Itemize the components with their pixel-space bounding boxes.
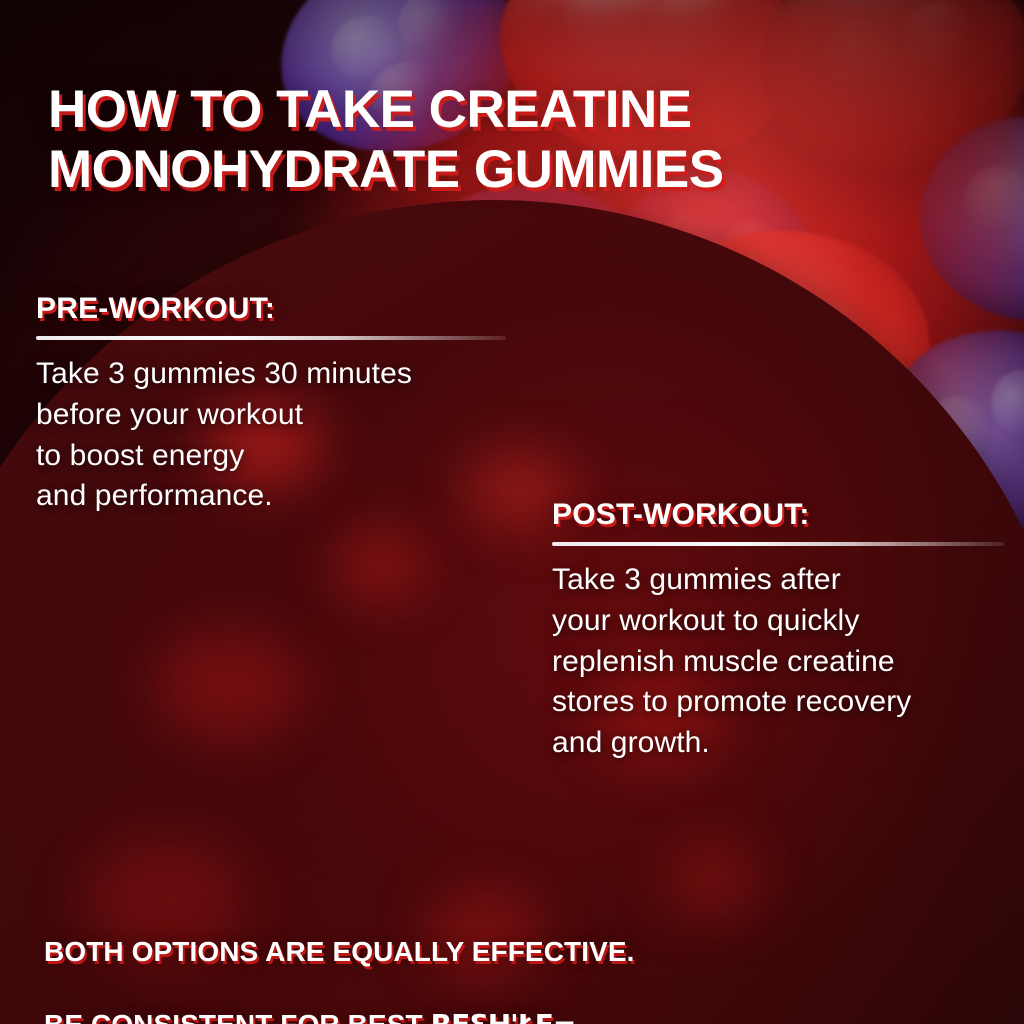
section-pre-workout: PRE-WORKOUT: Take 3 gummies 30 minutes b… <box>36 292 506 517</box>
pre-workout-heading: PRE-WORKOUT: <box>36 292 506 326</box>
section-post-workout: POST-WORKOUT: Take 3 gummies after your … <box>552 498 1004 764</box>
page-title: HOW TO TAKE CREATINE MONOHYDRATE GUMMIES <box>48 80 928 201</box>
post-workout-body: Take 3 gummies after your workout to qui… <box>552 560 1004 764</box>
footer-line-1: BOTH OPTIONS ARE EQUALLY EFFECTIVE. <box>44 934 904 970</box>
post-workout-heading: POST-WORKOUT: <box>552 498 1004 532</box>
footer-garbled-text: REƐH'ŁƑ⌐ <box>431 1008 576 1024</box>
post-workout-underline <box>552 542 1004 546</box>
infographic-poster: HOW TO TAKE CREATINE MONOHYDRATE GUMMIES… <box>0 0 1024 1024</box>
pre-workout-body: Take 3 gummies 30 minutes before your wo… <box>36 354 506 517</box>
footer-note: BOTH OPTIONS ARE EQUALLY EFFECTIVE. BE C… <box>44 898 904 1024</box>
footer-line-2: BE CONSISTENT FOR BEST REƐH'ŁƑ⌐ <box>44 1007 904 1024</box>
pre-workout-underline <box>36 336 506 340</box>
footer-line-2-prefix: BE CONSISTENT FOR BEST <box>44 1009 431 1024</box>
